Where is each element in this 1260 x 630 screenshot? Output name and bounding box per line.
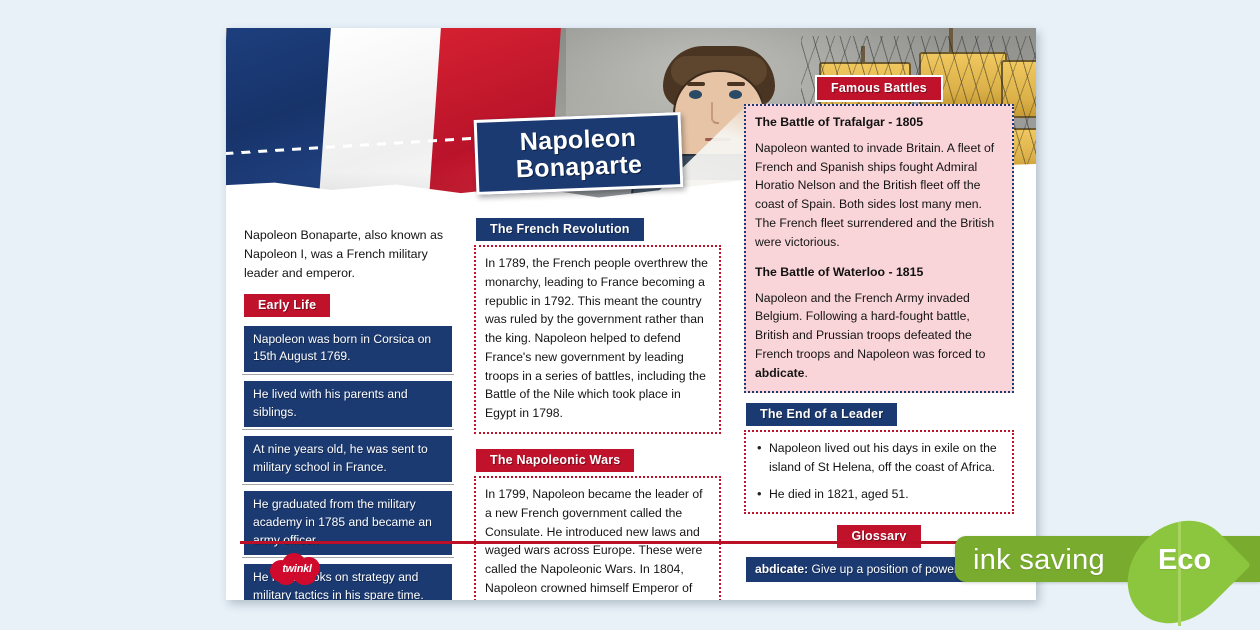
early-life-fact-text: He lived with his parents and siblings. <box>253 387 408 419</box>
glossary-term: abdicate: <box>755 562 808 576</box>
glossary-term-inline: abdicate <box>755 366 804 380</box>
eco-badge-primary-text: ink saving <box>973 544 1105 577</box>
heading-famous-battles: Famous Battles <box>815 75 943 102</box>
twinkl-logo[interactable]: twinkl <box>268 552 324 586</box>
glossary-definition: Give up a position of power. <box>808 562 961 576</box>
battle-waterloo-subhead: The Battle of Waterloo - 1815 <box>755 263 1003 282</box>
ink-saving-eco-badge: ink saving Eco <box>955 528 1260 590</box>
battle-waterloo-body: Napoleon and the French Army invaded Bel… <box>755 289 1003 383</box>
twinkl-wordmark: twinkl <box>274 563 320 575</box>
napoleon-eyebrow <box>727 82 745 86</box>
end-of-leader-panel: Napoleon lived out his days in exile on … <box>744 430 1014 514</box>
early-life-fact-text: At nine years old, he was sent to milita… <box>253 442 428 474</box>
page-title: Napoleon Bonaparte <box>477 123 680 184</box>
battle-trafalgar-subhead: The Battle of Trafalgar - 1805 <box>755 113 1003 132</box>
early-life-fact: He graduated from the military academy i… <box>242 489 454 557</box>
napoleonic-wars-body: In 1799, Napoleon became the leader of a… <box>474 476 721 600</box>
early-life-fact: Napoleon was born in Corsica on 15th Aug… <box>242 324 454 374</box>
battle-waterloo-body-end: . <box>804 366 807 380</box>
heading-glossary: Glossary <box>835 523 922 550</box>
list-item: Napoleon lived out his days in exile on … <box>755 439 1003 476</box>
napoleon-eye <box>689 90 702 99</box>
heading-early-life: Early Life <box>242 292 332 319</box>
french-revolution-body: In 1789, the French people overthrew the… <box>474 245 721 434</box>
heading-french-revolution: The French Revolution <box>474 216 646 243</box>
footer-divider <box>240 541 1022 544</box>
list-item: He died in 1821, aged 51. <box>755 485 1003 503</box>
napoleon-nose <box>711 102 719 124</box>
end-of-leader-list: Napoleon lived out his days in exile on … <box>755 439 1003 503</box>
battle-waterloo-body-text: Napoleon and the French Army invaded Bel… <box>755 291 985 361</box>
intro-paragraph: Napoleon Bonaparte, also known as Napole… <box>242 224 454 283</box>
page-title-plaque: Napoleon Bonaparte <box>474 112 684 195</box>
right-column: Famous Battles The Battle of Trafalgar -… <box>744 75 1014 584</box>
early-life-fact-text: Napoleon was born in Corsica on 15th Aug… <box>253 332 431 364</box>
heading-end-of-a-leader: The End of a Leader <box>744 401 899 428</box>
battle-trafalgar-body: Napoleon wanted to invade Britain. A fle… <box>755 139 1003 252</box>
early-life-fact: He lived with his parents and siblings. <box>242 379 454 429</box>
screen-canvas: Napoleon Bonaparte Napoleon Bonaparte, a… <box>0 0 1260 630</box>
heading-napoleonic-wars: The Napoleonic Wars <box>474 447 636 474</box>
eco-badge-secondary-text: Eco <box>1158 544 1211 577</box>
poster-sheet: Napoleon Bonaparte Napoleon Bonaparte, a… <box>226 28 1036 600</box>
napoleon-eye <box>729 90 742 99</box>
famous-battles-panel: The Battle of Trafalgar - 1805 Napoleon … <box>744 104 1014 393</box>
early-life-fact: At nine years old, he was sent to milita… <box>242 434 454 484</box>
napoleon-eyebrow <box>687 82 705 86</box>
early-life-fact-text: He graduated from the military academy i… <box>253 497 432 546</box>
